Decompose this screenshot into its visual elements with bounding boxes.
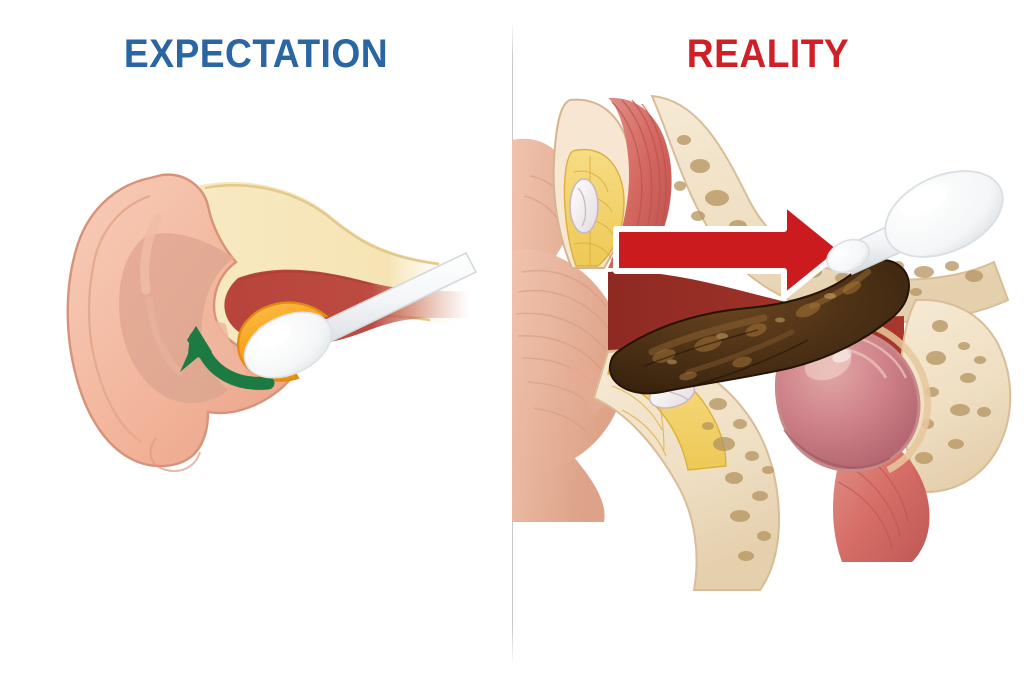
cartilage — [570, 179, 598, 233]
panel-reality — [512, 0, 1024, 683]
comparison-illustration: EXPECTATION REALITY — [0, 0, 1024, 683]
panel-expectation — [0, 0, 512, 683]
cotton-swab-reality — [822, 154, 1016, 279]
